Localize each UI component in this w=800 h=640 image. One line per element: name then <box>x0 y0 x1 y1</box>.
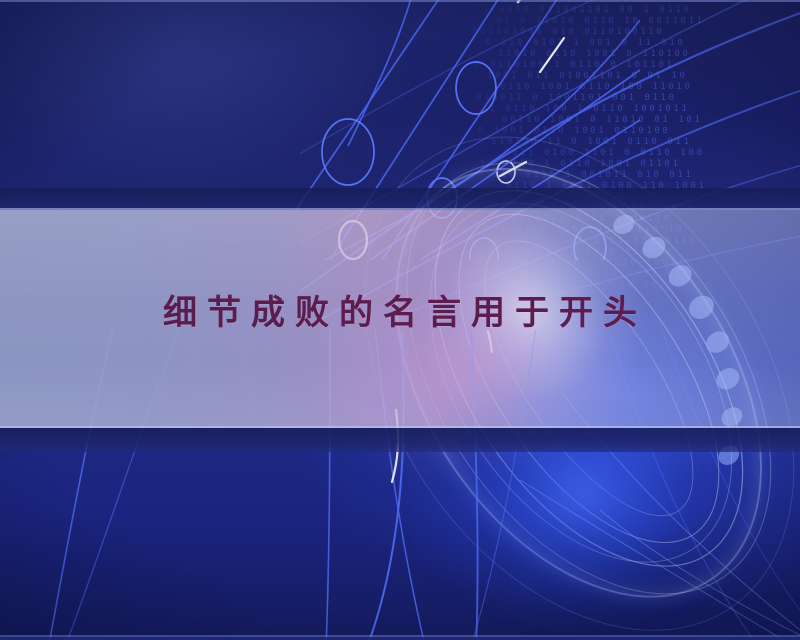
band-top-stripe <box>0 188 800 209</box>
top-edge-line <box>0 0 800 2</box>
page-title: 细节成败的名言用于开头 <box>153 285 647 334</box>
slide-canvas: 0100110 10 011 01001101 01 0010 01100110… <box>0 0 800 640</box>
band-bottom-stripe <box>0 428 800 452</box>
title-row: 细节成败的名言用于开头 <box>0 285 800 334</box>
